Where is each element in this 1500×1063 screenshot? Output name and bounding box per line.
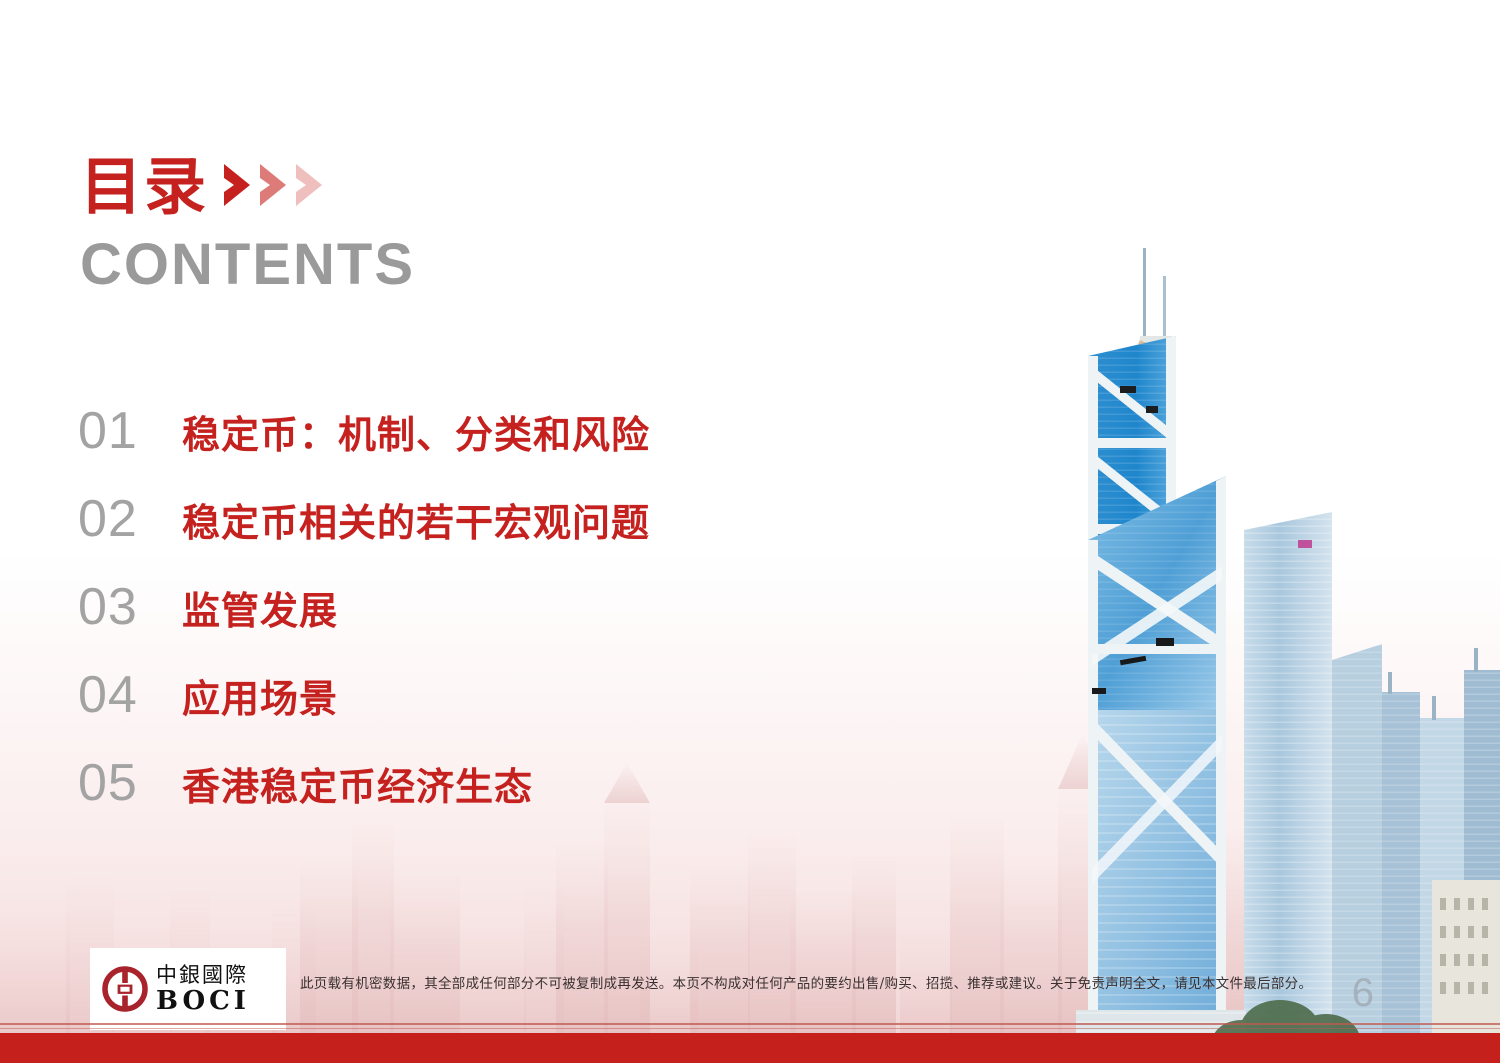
toc-number: 01 [78,405,182,457]
boci-logo-text: 中銀國際 BOCI [156,965,250,1014]
disclaimer-text: 此页载有机密数据，其全部成任何部分不可被复制成再发送。本页不构成对任何产品的要约… [300,978,1460,992]
boci-emblem-icon [102,966,148,1012]
chevron-group [222,162,328,208]
toc-label[interactable]: 应用场景 [182,680,338,718]
toc-label[interactable]: 稳定币相关的若干宏观问题 [182,504,650,542]
page-title-cn: 目录 [80,156,208,218]
table-of-contents: 01 稳定币：机制、分类和风险 02 稳定币相关的若干宏观问题 03 监管发展 … [78,405,978,845]
boci-logo: 中銀國際 BOCI [90,948,286,1030]
toc-item-03[interactable]: 03 监管发展 [78,581,978,669]
toc-number: 03 [78,581,182,633]
toc-number: 02 [78,493,182,545]
toc-item-01[interactable]: 01 稳定币：机制、分类和风险 [78,405,978,493]
chevron-right-icon-2 [258,162,292,208]
footer-rule-lower [0,1028,1500,1029]
toc-item-04[interactable]: 04 应用场景 [78,669,978,757]
page-number: 6 [1352,973,1374,1013]
toc-number: 05 [78,757,182,809]
page-title-en: CONTENTS [80,236,415,294]
boci-logo-en: BOCI [156,988,250,1014]
bank-of-china-tower-photo [980,240,1500,1063]
footer-red-bar [0,1033,1500,1063]
title-row: 目录 [80,150,415,224]
slide-title-block: 目录 CONTENTS [80,150,415,294]
boci-logo-cn: 中銀國際 [156,965,250,986]
footer-rule-upper [0,1023,1500,1025]
chevron-right-icon-3 [294,162,328,208]
presentation-slide: 目录 CONTENTS 01 稳定币：机制、分类和风险 02 稳定币相关的若干 [0,0,1500,1063]
toc-number: 04 [78,669,182,721]
toc-label[interactable]: 稳定币：机制、分类和风险 [182,416,650,454]
toc-item-05[interactable]: 05 香港稳定币经济生态 [78,757,978,845]
toc-label[interactable]: 香港稳定币经济生态 [182,768,533,806]
chevron-right-icon-1 [222,162,256,208]
toc-item-02[interactable]: 02 稳定币相关的若干宏观问题 [78,493,978,581]
toc-label[interactable]: 监管发展 [182,592,338,630]
